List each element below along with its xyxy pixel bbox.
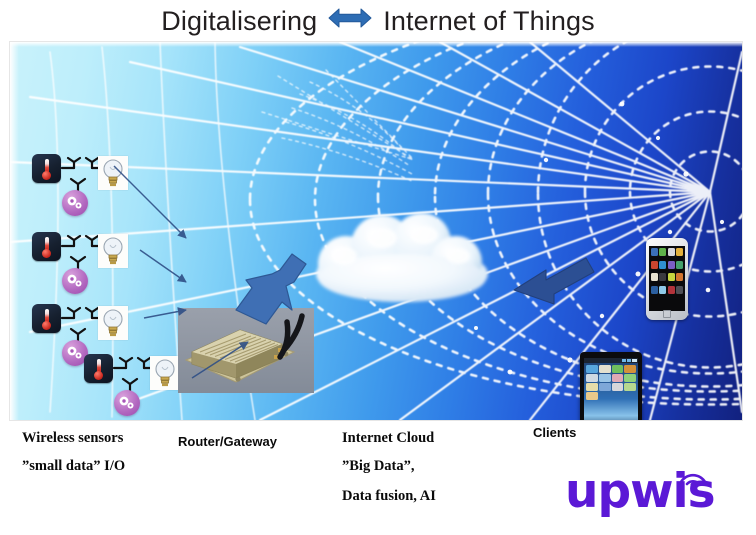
caption-router-gateway: Router/Gateway (178, 434, 277, 449)
caption-wireless-sensors-line1: Wireless sensors (22, 430, 123, 447)
lightbulb-icon (98, 234, 128, 268)
page-title: Digitalisering Internet of Things (0, 2, 756, 40)
upwis-logo: upwis (565, 466, 725, 518)
caption-clients: Clients (533, 425, 576, 440)
tablet-icon (580, 352, 642, 420)
lightbulb-icon (98, 156, 128, 190)
panel-edge-highlight (10, 42, 19, 420)
caption-internet-cloud-line3: Data fusion, AI (342, 488, 436, 505)
title-right-text: Internet of Things (383, 6, 594, 37)
diagram-image (10, 42, 742, 420)
home-button[interactable] (663, 310, 671, 318)
thermometer-icon (32, 304, 61, 333)
caption-wireless-sensors-line2: ”small data” I/O (22, 458, 125, 475)
caption-internet-cloud-line2: ”Big Data”, (342, 458, 415, 475)
thermometer-icon (84, 354, 113, 383)
panel-edge-highlight-top (10, 42, 742, 47)
lightbulb-icon (98, 306, 128, 340)
router-gateway-photo (178, 308, 314, 393)
caption-internet-cloud-line1: Internet Cloud (342, 430, 434, 447)
sensor-cluster (32, 232, 140, 294)
sensor-cluster (84, 354, 192, 416)
gears-icon (62, 190, 88, 216)
title-left-text: Digitalisering (161, 6, 317, 37)
tablet-screen (584, 358, 638, 420)
lightbulb-icon (150, 356, 180, 390)
sensor-cluster (32, 154, 140, 216)
thermometer-icon (32, 232, 61, 261)
smartphone-screen (649, 246, 685, 311)
wifi-arcs-icon (675, 462, 711, 488)
slide-canvas: Digitalisering Internet of Things (0, 0, 756, 535)
gears-icon (114, 390, 140, 416)
cloud-icon (310, 208, 495, 310)
gears-icon (62, 268, 88, 294)
thermometer-icon (32, 154, 61, 183)
double-arrow-horizontal-icon (328, 6, 372, 37)
app-grid (584, 363, 638, 400)
smartphone-icon (646, 238, 688, 320)
